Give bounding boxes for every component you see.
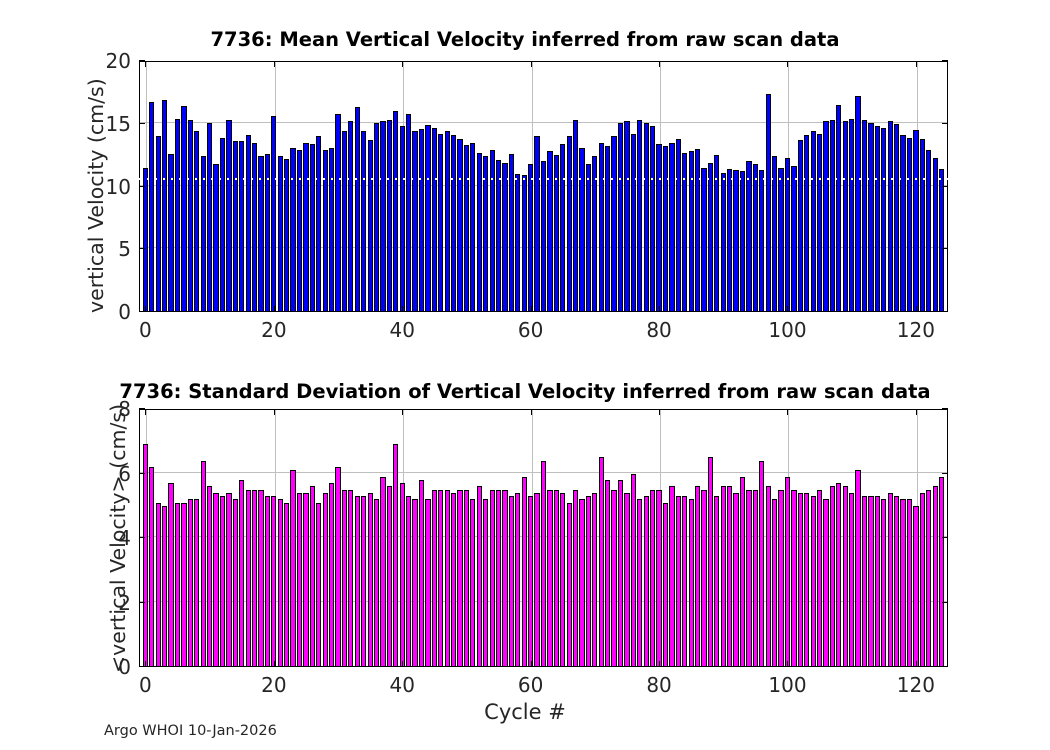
bar bbox=[843, 486, 848, 667]
bar bbox=[207, 486, 212, 667]
bar bbox=[156, 136, 161, 312]
bar bbox=[624, 121, 629, 312]
bar bbox=[708, 163, 713, 312]
bar bbox=[798, 140, 803, 312]
bar bbox=[400, 483, 405, 667]
bar bbox=[258, 490, 263, 667]
bar bbox=[284, 159, 289, 312]
bar bbox=[605, 480, 610, 667]
bar bbox=[143, 444, 148, 667]
bar bbox=[785, 158, 790, 312]
bar bbox=[753, 164, 758, 312]
bar bbox=[778, 490, 783, 667]
bar bbox=[836, 105, 841, 312]
y-tick-label: 2 bbox=[91, 591, 131, 615]
x-tick-label: 0 bbox=[139, 318, 152, 342]
x-tick-label: 100 bbox=[768, 318, 806, 342]
bar bbox=[335, 114, 340, 312]
bar bbox=[868, 123, 873, 313]
bar bbox=[502, 490, 507, 667]
bar bbox=[316, 136, 321, 312]
bar bbox=[213, 493, 218, 667]
x-tick-mark bbox=[145, 661, 146, 667]
bar bbox=[194, 499, 199, 667]
argo-velocity-figure: 7736: Mean Vertical Velocity inferred fr… bbox=[0, 0, 1050, 750]
bar bbox=[303, 493, 308, 667]
bar bbox=[194, 131, 199, 312]
bar bbox=[618, 480, 623, 667]
y-tick-mark bbox=[942, 60, 948, 61]
bar bbox=[335, 467, 340, 667]
bar bbox=[631, 474, 636, 668]
x-tick-mark bbox=[145, 306, 146, 312]
bar bbox=[637, 120, 642, 312]
bar bbox=[811, 496, 816, 667]
bar-series-mean bbox=[139, 61, 948, 312]
y-tick-label: 8 bbox=[91, 397, 131, 421]
bar bbox=[682, 153, 687, 312]
x-tick-mark bbox=[402, 306, 403, 312]
y-tick-mark bbox=[139, 186, 145, 187]
bar bbox=[746, 490, 751, 667]
x-tick-mark bbox=[274, 306, 275, 312]
bar bbox=[265, 496, 270, 667]
figure-footer: Argo WHOI 10-Jan-2026 bbox=[104, 723, 277, 739]
bar bbox=[271, 496, 276, 667]
bar bbox=[470, 143, 475, 312]
bar bbox=[252, 143, 257, 312]
bar bbox=[650, 490, 655, 667]
bar bbox=[611, 490, 616, 667]
reference-line bbox=[139, 178, 948, 180]
x-tick-mark bbox=[145, 409, 146, 415]
bar bbox=[676, 496, 681, 667]
bar bbox=[323, 150, 328, 312]
x-tick-label: 60 bbox=[518, 673, 543, 697]
bar bbox=[554, 490, 559, 667]
bar bbox=[226, 493, 231, 667]
x-tick-label: 120 bbox=[897, 318, 935, 342]
bar bbox=[528, 496, 533, 667]
bar bbox=[862, 496, 867, 667]
bar bbox=[509, 496, 514, 667]
bar bbox=[143, 168, 148, 312]
bar bbox=[605, 146, 610, 312]
bar bbox=[297, 493, 302, 667]
bar bbox=[207, 123, 212, 313]
bar bbox=[310, 144, 315, 312]
bar bbox=[766, 486, 771, 667]
bar bbox=[920, 139, 925, 312]
bar bbox=[907, 138, 912, 312]
bar bbox=[823, 121, 828, 312]
bar bbox=[669, 486, 674, 667]
bar bbox=[714, 496, 719, 667]
bar bbox=[695, 486, 700, 667]
bar bbox=[252, 490, 257, 667]
chart-title-std: 7736: Standard Deviation of Vertical Vel… bbox=[0, 380, 1050, 403]
bar bbox=[579, 148, 584, 312]
x-tick-mark bbox=[659, 409, 660, 415]
x-tick-mark bbox=[787, 409, 788, 415]
bar bbox=[438, 490, 443, 667]
bar bbox=[676, 139, 681, 312]
x-tick-label: 20 bbox=[261, 673, 286, 697]
bar bbox=[425, 499, 430, 667]
bar bbox=[220, 496, 225, 667]
x-tick-label: 40 bbox=[390, 673, 415, 697]
bar bbox=[579, 499, 584, 667]
bar bbox=[432, 490, 437, 667]
x-tick-label: 120 bbox=[897, 673, 935, 697]
x-tick-mark bbox=[531, 306, 532, 312]
x-tick-mark bbox=[659, 306, 660, 312]
bar bbox=[393, 111, 398, 312]
bar bbox=[162, 100, 167, 312]
bar bbox=[541, 461, 546, 667]
bar bbox=[913, 506, 918, 667]
bar bbox=[907, 499, 912, 667]
bar bbox=[888, 493, 893, 667]
bar bbox=[374, 499, 379, 667]
bar bbox=[644, 496, 649, 667]
bar bbox=[470, 499, 475, 667]
bar bbox=[233, 499, 238, 667]
bar bbox=[329, 483, 334, 667]
bar bbox=[490, 490, 495, 667]
bar bbox=[477, 486, 482, 667]
bar bbox=[939, 477, 944, 667]
bar bbox=[181, 106, 186, 312]
bar bbox=[220, 138, 225, 312]
x-tick-label: 80 bbox=[646, 673, 671, 697]
y-tick-label: 10 bbox=[91, 175, 131, 199]
bar bbox=[522, 175, 527, 312]
bar bbox=[650, 126, 655, 312]
x-tick-mark bbox=[402, 661, 403, 667]
bar bbox=[316, 503, 321, 667]
bar bbox=[541, 161, 546, 312]
bar bbox=[419, 480, 424, 667]
bar bbox=[464, 490, 469, 667]
bar bbox=[188, 499, 193, 667]
bar bbox=[348, 121, 353, 312]
bar bbox=[913, 130, 918, 312]
bar bbox=[663, 503, 668, 667]
y-tick-mark bbox=[139, 473, 145, 474]
bar bbox=[759, 170, 764, 312]
bar bbox=[733, 170, 738, 312]
bar bbox=[573, 490, 578, 667]
bar bbox=[457, 490, 462, 667]
bar bbox=[939, 169, 944, 312]
bar bbox=[849, 493, 854, 667]
bar bbox=[567, 503, 572, 667]
bar bbox=[695, 149, 700, 312]
bar bbox=[355, 107, 360, 312]
x-tick-mark bbox=[274, 61, 275, 67]
bar bbox=[611, 136, 616, 312]
y-tick-label: 0 bbox=[91, 300, 131, 324]
mean-velocity-plot bbox=[139, 61, 948, 312]
x-tick-mark bbox=[787, 61, 788, 67]
bar bbox=[451, 135, 456, 312]
bar bbox=[419, 129, 424, 312]
bar bbox=[778, 168, 783, 312]
bar bbox=[483, 499, 488, 667]
bar bbox=[772, 499, 777, 667]
bar bbox=[592, 493, 597, 667]
y-tick-mark bbox=[942, 666, 948, 667]
y-tick-mark bbox=[942, 311, 948, 312]
bar bbox=[830, 486, 835, 667]
bar bbox=[271, 116, 276, 312]
bar bbox=[239, 141, 244, 312]
bar bbox=[355, 496, 360, 667]
bar bbox=[387, 486, 392, 667]
bar bbox=[817, 490, 822, 667]
bar bbox=[329, 148, 334, 312]
x-tick-label: 20 bbox=[261, 318, 286, 342]
x-axis-label: Cycle # bbox=[0, 700, 1050, 724]
x-tick-mark bbox=[402, 61, 403, 67]
x-tick-mark bbox=[531, 409, 532, 415]
x-tick-mark bbox=[659, 61, 660, 67]
bar bbox=[721, 173, 726, 312]
x-tick-mark bbox=[916, 61, 917, 67]
bar bbox=[791, 490, 796, 667]
bar bbox=[663, 146, 668, 312]
bar bbox=[406, 114, 411, 312]
x-tick-mark bbox=[916, 661, 917, 667]
bar bbox=[457, 139, 462, 312]
bar bbox=[406, 496, 411, 667]
bar bbox=[727, 169, 732, 312]
x-tick-mark bbox=[787, 306, 788, 312]
bar bbox=[156, 503, 161, 667]
bar bbox=[656, 490, 661, 667]
bar bbox=[515, 493, 520, 667]
bar bbox=[573, 120, 578, 312]
y-tick-mark bbox=[139, 537, 145, 538]
bar bbox=[804, 135, 809, 312]
bar bbox=[534, 493, 539, 667]
bar bbox=[560, 144, 565, 312]
x-tick-label: 80 bbox=[646, 318, 671, 342]
bar bbox=[888, 121, 893, 312]
x-tick-mark bbox=[531, 61, 532, 67]
bar bbox=[849, 119, 854, 312]
bar bbox=[624, 493, 629, 667]
bar bbox=[631, 134, 636, 312]
bar bbox=[900, 135, 905, 312]
bar bbox=[766, 94, 771, 312]
bar bbox=[213, 164, 218, 312]
bar bbox=[637, 499, 642, 667]
x-tick-mark bbox=[916, 306, 917, 312]
bar bbox=[496, 160, 501, 312]
bar bbox=[669, 143, 674, 312]
x-tick-mark bbox=[659, 661, 660, 667]
y-tick-mark bbox=[139, 666, 145, 667]
y-tick-mark bbox=[942, 248, 948, 249]
bar bbox=[689, 151, 694, 312]
bar bbox=[843, 121, 848, 312]
bar bbox=[342, 131, 347, 312]
bar bbox=[740, 477, 745, 667]
bar bbox=[290, 470, 295, 667]
bar bbox=[175, 119, 180, 312]
bar bbox=[560, 493, 565, 667]
bar bbox=[599, 457, 604, 667]
bar bbox=[791, 166, 796, 312]
x-tick-mark bbox=[531, 661, 532, 667]
bar bbox=[393, 444, 398, 667]
bar bbox=[746, 161, 751, 312]
std-velocity-plot bbox=[139, 409, 948, 667]
bar bbox=[926, 490, 931, 667]
bar bbox=[246, 135, 251, 312]
y-tick-label: 0 bbox=[91, 655, 131, 679]
bar bbox=[181, 503, 186, 667]
bar bbox=[188, 120, 193, 312]
bar bbox=[445, 490, 450, 667]
bar bbox=[149, 102, 154, 312]
bar bbox=[875, 496, 880, 667]
bar bbox=[933, 158, 938, 312]
bar bbox=[490, 150, 495, 312]
bar bbox=[451, 493, 456, 667]
bar bbox=[823, 499, 828, 667]
bar bbox=[502, 163, 507, 312]
bar bbox=[368, 493, 373, 667]
bar bbox=[547, 151, 552, 312]
bar bbox=[586, 496, 591, 667]
bar bbox=[496, 490, 501, 667]
bar bbox=[149, 467, 154, 667]
x-tick-mark bbox=[145, 61, 146, 67]
bar bbox=[721, 486, 726, 667]
y-tick-label: 6 bbox=[91, 462, 131, 486]
y-tick-mark bbox=[139, 602, 145, 603]
y-tick-mark bbox=[942, 123, 948, 124]
bar bbox=[380, 121, 385, 312]
x-tick-mark bbox=[787, 661, 788, 667]
bar bbox=[162, 506, 167, 667]
bar bbox=[586, 164, 591, 312]
bar bbox=[323, 493, 328, 667]
bar bbox=[740, 171, 745, 312]
y-tick-mark bbox=[139, 408, 145, 409]
bar bbox=[361, 131, 366, 312]
x-tick-label: 60 bbox=[518, 318, 543, 342]
chart-title-mean: 7736: Mean Vertical Velocity inferred fr… bbox=[0, 28, 1050, 51]
bar bbox=[701, 490, 706, 667]
bar bbox=[464, 145, 469, 312]
bar bbox=[400, 126, 405, 312]
x-tick-mark bbox=[274, 661, 275, 667]
bar bbox=[933, 486, 938, 667]
bar bbox=[804, 493, 809, 667]
bar bbox=[387, 120, 392, 312]
bar bbox=[875, 126, 880, 312]
bar bbox=[361, 496, 366, 667]
y-tick-mark bbox=[942, 408, 948, 409]
bar bbox=[290, 148, 295, 312]
bar bbox=[477, 153, 482, 312]
bar bbox=[785, 477, 790, 667]
bar bbox=[727, 486, 732, 667]
y-tick-mark bbox=[942, 537, 948, 538]
bar bbox=[689, 499, 694, 667]
bar bbox=[656, 144, 661, 312]
bar bbox=[528, 164, 533, 312]
bar bbox=[644, 123, 649, 313]
bar bbox=[926, 150, 931, 312]
bar bbox=[522, 477, 527, 667]
bar bbox=[246, 490, 251, 667]
bar bbox=[342, 490, 347, 667]
bar bbox=[175, 503, 180, 667]
y-tick-mark bbox=[139, 60, 145, 61]
bar bbox=[412, 131, 417, 312]
bar bbox=[682, 496, 687, 667]
y-tick-mark bbox=[942, 186, 948, 187]
bar bbox=[855, 470, 860, 667]
bar bbox=[547, 490, 552, 667]
y-tick-label: 5 bbox=[91, 237, 131, 261]
x-tick-label: 40 bbox=[390, 318, 415, 342]
y-tick-mark bbox=[942, 473, 948, 474]
bar bbox=[920, 493, 925, 667]
bar bbox=[168, 483, 173, 667]
bar bbox=[868, 496, 873, 667]
bar bbox=[445, 131, 450, 312]
bar bbox=[438, 134, 443, 312]
bar bbox=[425, 125, 430, 312]
x-tick-label: 100 bbox=[768, 673, 806, 697]
bar bbox=[368, 140, 373, 312]
bar bbox=[900, 499, 905, 667]
bar bbox=[881, 128, 886, 312]
x-tick-mark bbox=[274, 409, 275, 415]
bar bbox=[303, 143, 308, 312]
bar bbox=[753, 490, 758, 667]
bar bbox=[284, 503, 289, 667]
bar bbox=[278, 499, 283, 667]
bar bbox=[894, 496, 899, 667]
y-tick-label: 20 bbox=[91, 49, 131, 73]
bar bbox=[817, 134, 822, 312]
bar bbox=[380, 477, 385, 667]
bar bbox=[226, 120, 231, 312]
bar bbox=[618, 123, 623, 313]
bar bbox=[862, 120, 867, 312]
bar-series-std bbox=[139, 409, 948, 667]
bar bbox=[881, 499, 886, 667]
bar bbox=[894, 124, 899, 312]
bar bbox=[201, 461, 206, 667]
bar bbox=[708, 457, 713, 667]
bar bbox=[798, 493, 803, 667]
x-tick-mark bbox=[916, 409, 917, 415]
bar bbox=[515, 174, 520, 312]
bar bbox=[836, 483, 841, 667]
x-tick-label: 0 bbox=[139, 673, 152, 697]
bar bbox=[830, 120, 835, 312]
bar bbox=[233, 141, 238, 312]
y-tick-mark bbox=[139, 311, 145, 312]
